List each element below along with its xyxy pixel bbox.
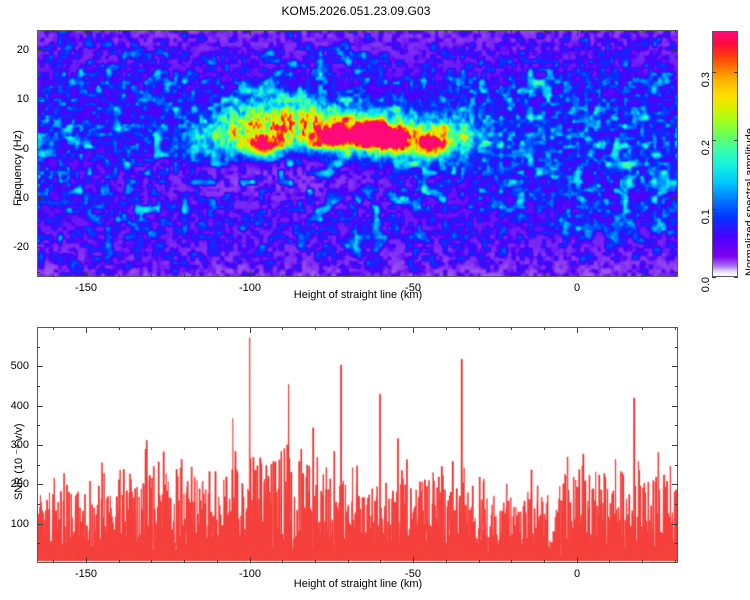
axis-tick [413, 271, 414, 277]
axis-tick [675, 327, 676, 330]
spectrogram-y-tick-label: -20 [13, 241, 29, 253]
axis-tick [446, 327, 447, 330]
axis-tick [675, 272, 678, 273]
axis-tick [86, 557, 87, 563]
axis-tick [250, 271, 251, 277]
colorbar-tick [712, 140, 716, 141]
axis-tick [282, 30, 283, 33]
axis-tick [446, 30, 447, 33]
axis-tick [184, 327, 185, 330]
axis-tick [37, 74, 40, 75]
colorbar-tick-label: 0.0 [700, 277, 712, 292]
axis-tick [348, 327, 349, 330]
snr-y-tick-label: 500 [11, 360, 29, 372]
axis-tick [672, 524, 678, 525]
axis-tick [577, 557, 578, 563]
snr-x-tick-label: 0 [574, 568, 580, 580]
snr-y-tick-label: 100 [11, 518, 29, 530]
axis-tick [380, 560, 381, 563]
axis-tick [217, 327, 218, 330]
axis-tick [37, 149, 43, 150]
axis-tick [37, 99, 43, 100]
axis-tick [184, 560, 185, 563]
axis-tick [37, 543, 40, 544]
axis-tick [446, 560, 447, 563]
axis-tick [37, 247, 43, 248]
axis-tick [511, 274, 512, 277]
axis-tick [151, 30, 152, 33]
axis-tick [37, 50, 43, 51]
axis-tick [544, 274, 545, 277]
axis-tick [348, 30, 349, 33]
axis-tick [672, 366, 678, 367]
axis-tick [348, 274, 349, 277]
axis-tick [53, 560, 54, 563]
snr-panel [37, 327, 678, 563]
axis-tick [37, 445, 43, 446]
axis-tick [675, 504, 678, 505]
axis-tick [479, 327, 480, 330]
axis-tick [672, 484, 678, 485]
axis-tick [413, 327, 414, 333]
spectrogram-x-tick-label: -150 [75, 282, 97, 294]
axis-tick [675, 274, 676, 277]
axis-tick [282, 560, 283, 563]
axis-tick [217, 274, 218, 277]
axis-tick [151, 327, 152, 330]
snr-x-tick-label: -150 [75, 568, 97, 580]
axis-tick [675, 74, 678, 75]
spectrogram-x-axis-label: Height of straight line (km) [294, 289, 422, 301]
axis-tick [609, 30, 610, 33]
axis-tick [315, 327, 316, 330]
axis-tick [217, 30, 218, 33]
axis-tick [675, 30, 676, 33]
axis-tick [413, 30, 414, 36]
colorbar-tick-label: 0.2 [700, 140, 712, 155]
axis-tick [86, 327, 87, 333]
axis-tick [151, 560, 152, 563]
axis-tick [184, 30, 185, 33]
axis-tick [446, 274, 447, 277]
axis-tick [37, 406, 43, 407]
axis-tick [184, 274, 185, 277]
axis-tick [479, 30, 480, 33]
axis-tick [315, 30, 316, 33]
axis-tick [37, 272, 40, 273]
axis-tick [672, 406, 678, 407]
axis-tick [37, 504, 40, 505]
colorbar-tick [734, 277, 738, 278]
axis-tick [380, 327, 381, 330]
axis-tick [544, 327, 545, 330]
colorbar-label: Normalized spectral amplitude [744, 128, 750, 276]
axis-tick [119, 560, 120, 563]
axis-tick [380, 30, 381, 33]
axis-tick [609, 274, 610, 277]
axis-tick [675, 543, 678, 544]
axis-tick [315, 560, 316, 563]
colorbar-tick-label: 0.1 [700, 209, 712, 224]
axis-tick [119, 274, 120, 277]
axis-tick [544, 560, 545, 563]
axis-tick [250, 327, 251, 333]
axis-tick [282, 274, 283, 277]
axis-tick [511, 30, 512, 33]
axis-tick [119, 327, 120, 330]
axis-tick [675, 173, 678, 174]
page-title: KOM5.2026.051.23.09.G03 [0, 4, 712, 18]
axis-tick [675, 465, 678, 466]
axis-tick [348, 560, 349, 563]
axis-tick [315, 274, 316, 277]
axis-tick [544, 30, 545, 33]
snr-x-tick-label: -100 [239, 568, 261, 580]
axis-tick [53, 327, 54, 330]
axis-tick [151, 274, 152, 277]
axis-tick [609, 327, 610, 330]
axis-tick [479, 560, 480, 563]
spectrogram-panel [37, 30, 678, 277]
axis-tick [86, 30, 87, 36]
axis-tick [53, 30, 54, 33]
axis-tick [37, 124, 40, 125]
axis-tick [250, 30, 251, 36]
axis-tick [642, 560, 643, 563]
axis-tick [672, 99, 678, 100]
axis-tick [609, 560, 610, 563]
axis-tick [675, 560, 676, 563]
axis-tick [577, 327, 578, 333]
axis-tick [37, 425, 40, 426]
axis-tick [672, 445, 678, 446]
axis-tick [119, 30, 120, 33]
snr-y-tick-label: 400 [11, 400, 29, 412]
axis-tick [37, 198, 43, 199]
colorbar-tick [734, 72, 738, 73]
axis-tick [37, 465, 40, 466]
spectrogram-y-tick-label: 10 [17, 93, 29, 105]
axis-tick [675, 425, 678, 426]
axis-tick [675, 386, 678, 387]
colorbar [712, 31, 738, 277]
colorbar-tick [712, 277, 716, 278]
axis-tick [217, 560, 218, 563]
axis-tick [37, 484, 43, 485]
snr-y-axis-label: SNR (10 ⁻⁴ v/v) [12, 423, 25, 500]
spectrogram-x-tick-label: -100 [239, 282, 261, 294]
axis-tick [675, 347, 678, 348]
spectrogram-x-tick-label: 0 [574, 282, 580, 294]
axis-tick [642, 274, 643, 277]
spectrogram-y-axis-label: Frequency (Hz) [12, 130, 24, 206]
axis-tick [577, 271, 578, 277]
colorbar-tick-label: 0.3 [700, 72, 712, 87]
spectrogram-image [38, 31, 677, 276]
colorbar-gradient [713, 32, 737, 276]
spectrogram-y-tick-label: 20 [17, 44, 29, 56]
colorbar-tick [734, 140, 738, 141]
colorbar-tick [734, 209, 738, 210]
colorbar-tick [712, 72, 716, 73]
axis-tick [642, 327, 643, 330]
axis-tick [53, 274, 54, 277]
axis-tick [672, 50, 678, 51]
colorbar-tick [712, 209, 716, 210]
axis-tick [37, 173, 40, 174]
axis-tick [37, 524, 43, 525]
axis-tick [675, 124, 678, 125]
axis-tick [37, 366, 43, 367]
axis-tick [675, 223, 678, 224]
axis-tick [511, 327, 512, 330]
axis-tick [86, 271, 87, 277]
axis-tick [37, 223, 40, 224]
axis-tick [642, 30, 643, 33]
axis-tick [250, 557, 251, 563]
axis-tick [413, 557, 414, 563]
axis-tick [672, 247, 678, 248]
axis-tick [282, 327, 283, 330]
axis-tick [380, 274, 381, 277]
axis-tick [577, 30, 578, 36]
axis-tick [672, 198, 678, 199]
snr-x-axis-label: Height of straight line (km) [294, 578, 422, 590]
snr-trace-plot [38, 328, 677, 562]
axis-tick [672, 149, 678, 150]
axis-tick [511, 560, 512, 563]
axis-tick [37, 347, 40, 348]
axis-tick [37, 386, 40, 387]
axis-tick [479, 274, 480, 277]
